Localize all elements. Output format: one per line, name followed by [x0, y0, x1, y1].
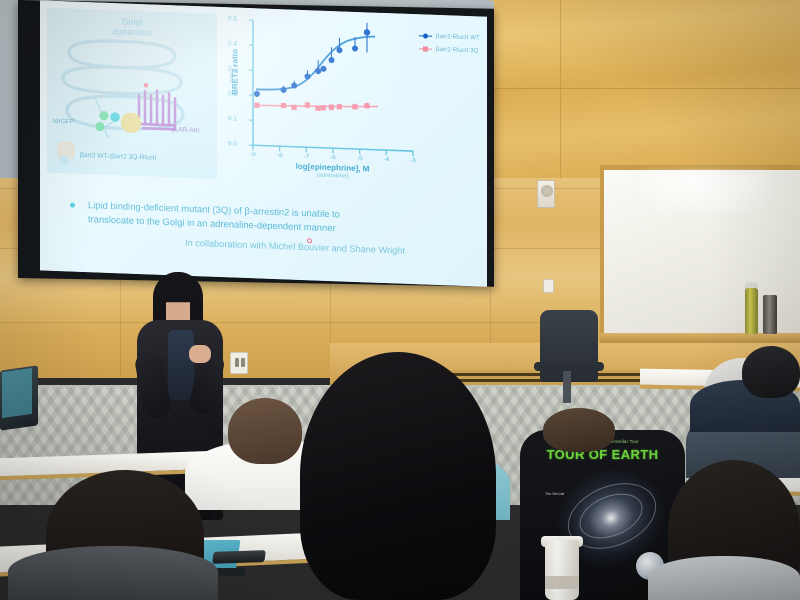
wall-sensor-icon: [543, 279, 554, 293]
xtick-2: -7: [304, 153, 310, 160]
foreground-shoulders-right: [648, 556, 800, 600]
foreground-shoulders-left: [8, 546, 218, 600]
tshirt-main-text: TOUR OF EARTH: [520, 447, 685, 462]
wt-fit-curve: [256, 32, 375, 93]
xtick-4: -5: [357, 155, 363, 162]
travel-mug: [763, 295, 777, 334]
wall-speaker-icon: [537, 180, 555, 208]
gfp-bead-icon: [95, 122, 104, 132]
whiteboard-glare: [640, 172, 770, 212]
foreground-head-center: [300, 352, 496, 600]
smartphone[interactable]: [212, 550, 266, 564]
legend-label-3q: βarr2-RlucII 3Q: [436, 46, 478, 55]
cyan-bead-icon: [110, 112, 120, 122]
audience-head-right-far: [742, 346, 800, 398]
power-outlet-icon: [230, 352, 248, 374]
office-chair-post: [563, 371, 571, 403]
gfp-bead-icon: [99, 111, 108, 121]
tshirt-small-text: The Set List: [545, 492, 564, 496]
presenter-shirt: [168, 330, 194, 400]
audience-head-back-center: [228, 398, 302, 464]
projection-screen: Golgi apparatus: [40, 0, 487, 286]
slide-bullet: Lipid binding-deficient mutant (3Q) of β…: [70, 198, 470, 241]
audience-head-tshirt-person: [543, 408, 615, 452]
water-bottle: [745, 288, 758, 334]
xtick-1: -8: [277, 152, 283, 159]
wood-seam: [560, 0, 561, 178]
collaboration-note: In collaboration with Michel Bouvier and…: [130, 236, 460, 258]
wood-panel-upper: [488, 0, 800, 178]
ligand-icon: [144, 83, 149, 88]
coffee-cup-sleeve: [545, 576, 579, 589]
presenter-hands: [189, 345, 211, 363]
xtick-0: -9: [250, 151, 256, 158]
legend-item-3q: βarr2-RlucII 3Q: [419, 45, 480, 54]
xtick-3: -6: [330, 154, 336, 161]
label-tdrgfp: tdrGFP: [53, 118, 74, 126]
bret-dose-response-chart: 0.5 0.4 0.3 0.2 0.1 0.0 -9 -8 -7 -6 -5 -…: [223, 11, 481, 192]
legend-label-wt: βarr2-RlucII WT: [436, 33, 480, 42]
xtick-6: -3: [410, 157, 416, 164]
lecture-hall-scene: Golgi apparatus: [0, 0, 800, 600]
legend-item-wt: βarr2-RlucII WT: [419, 32, 480, 41]
office-chair-arm: [534, 362, 604, 371]
legend-marker-circle-icon: [419, 33, 432, 38]
whiteboard-ledge: [600, 333, 800, 343]
y-axis-sublabel: (raw): [229, 51, 235, 101]
wood-seam: [488, 88, 800, 89]
bullet-dot-icon: [70, 203, 75, 208]
golgi-diagram-panel: Golgi apparatus: [47, 8, 217, 179]
ytick-0: 0.0: [228, 140, 237, 147]
ytick-5: 0.5: [228, 15, 237, 22]
confidence-monitor-screen: [2, 368, 32, 418]
legend-marker-square-icon: [419, 46, 432, 51]
xtick-5: -4: [384, 156, 390, 163]
coffee-cup[interactable]: [545, 540, 579, 600]
presentation-slide: Golgi apparatus: [40, 0, 487, 286]
label-receptor: β₁AR-Adr: [172, 126, 200, 134]
projection-screen-frame: Golgi apparatus: [18, 0, 494, 287]
rlucii-icon: [121, 112, 141, 133]
chart-legend: βarr2-RlucII WT βarr2-RlucII 3Q: [419, 32, 480, 60]
